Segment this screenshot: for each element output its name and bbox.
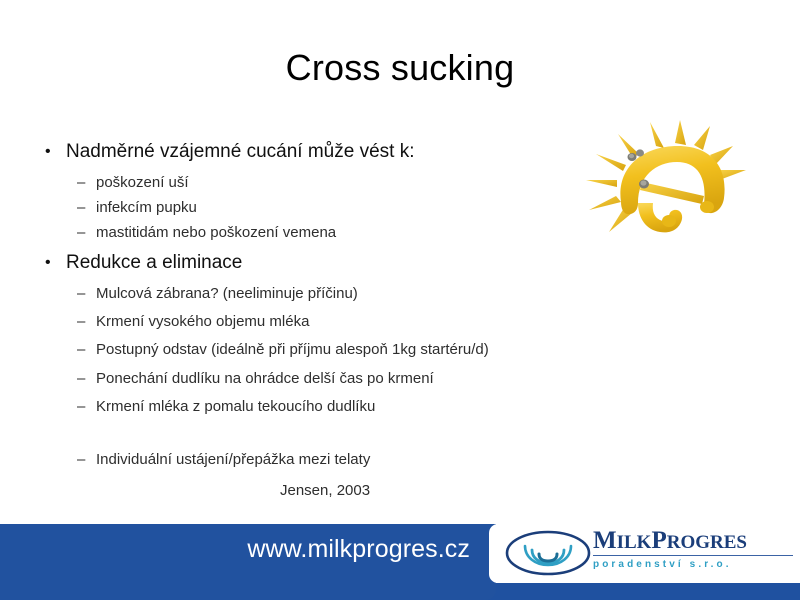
presentation-slide: Cross sucking • Nadměrné vzájemné cucání… (0, 0, 800, 600)
list-item-label: Nadměrné vzájemné cucání může vést k: (66, 141, 415, 162)
list-item: – Mulcová zábrana? (neeliminuje příčinu) (40, 284, 580, 303)
logo-name-rogres: ROGRES (667, 532, 747, 553)
list-item: – infekcím pupku (40, 198, 580, 217)
list-item: – Individuální ustájení/přepážka mezi te… (40, 450, 580, 469)
bullet-marker-icon: • (45, 140, 51, 163)
dash-marker-icon: – (77, 312, 85, 331)
dash-marker-icon: – (77, 223, 85, 242)
bullet-marker-icon: • (45, 251, 51, 274)
bullet-list: • Nadměrné vzájemné cucání může vést k: … (40, 140, 580, 469)
list-item: – Krmení mléka z pomalu tekoucího dudlík… (40, 397, 580, 416)
list-item-label: Krmení vysokého objemu mléka (96, 313, 309, 330)
company-logo: MILKPROGRES poradenství s.r.o. (505, 524, 800, 583)
logo-name-p: P (651, 527, 666, 554)
ring-crossbar (640, 182, 704, 204)
dash-marker-icon: – (77, 340, 85, 359)
list-item-label: poškození uší (96, 174, 189, 191)
list-item: – mastitidám nebo poškození vemena (40, 223, 580, 242)
dash-marker-icon: – (77, 397, 85, 416)
list-spacer (40, 242, 580, 251)
citation-text: Jensen, 2003 (280, 482, 370, 499)
dash-marker-icon: – (77, 173, 85, 192)
list-item-label: Postupný odstav (ideálně při příjmu ales… (96, 341, 489, 358)
list-item-label: mastitidám nebo poškození vemena (96, 224, 336, 241)
dash-marker-icon: – (77, 369, 85, 388)
dash-marker-icon: – (77, 284, 85, 303)
logo-tagline: poradenství s.r.o. (593, 559, 793, 570)
list-item: – Krmení vysokého objemu mléka (40, 312, 580, 331)
list-item-label: Mulcová zábrana? (neeliminuje příčinu) (96, 285, 358, 302)
list-item: – Ponechání dudlíku na ohrádce delší čas… (40, 369, 580, 388)
list-item-label: Krmení mléka z pomalu tekoucího dudlíku (96, 398, 375, 415)
list-item: – Postupný odstav (ideálně při příjmu al… (40, 340, 580, 359)
logo-company-name: MILKPROGRES (593, 528, 793, 556)
logo-name-ilk: ILK (617, 532, 652, 553)
milkprogres-ripple-icon (505, 530, 591, 576)
dash-marker-icon: – (77, 450, 85, 469)
footer-website-url[interactable]: www.milkprogres.cz (0, 535, 470, 564)
ring-cap-right (700, 201, 714, 213)
list-item-label: Redukce a eliminace (66, 252, 242, 273)
ring-cap-hook (662, 215, 676, 227)
list-item: • Redukce a eliminace (40, 251, 580, 275)
list-item: – poškození uší (40, 173, 580, 192)
logo-wordmark: MILKPROGRES poradenství s.r.o. (593, 528, 793, 570)
logo-name-m: M (593, 527, 617, 554)
list-item-label: Ponechání dudlíku na ohrádce delší čas p… (96, 370, 434, 387)
list-item-label: Individuální ustájení/přepážka mezi tela… (96, 451, 370, 468)
slide-title: Cross sucking (60, 48, 740, 88)
list-item-label: infekcím pupku (96, 199, 197, 216)
ring-lower-hook (638, 203, 682, 232)
anti-suckling-nose-ring-image (576, 118, 784, 242)
list-item: • Nadměrné vzájemné cucání může vést k: (40, 140, 580, 164)
dash-marker-icon: – (77, 198, 85, 217)
